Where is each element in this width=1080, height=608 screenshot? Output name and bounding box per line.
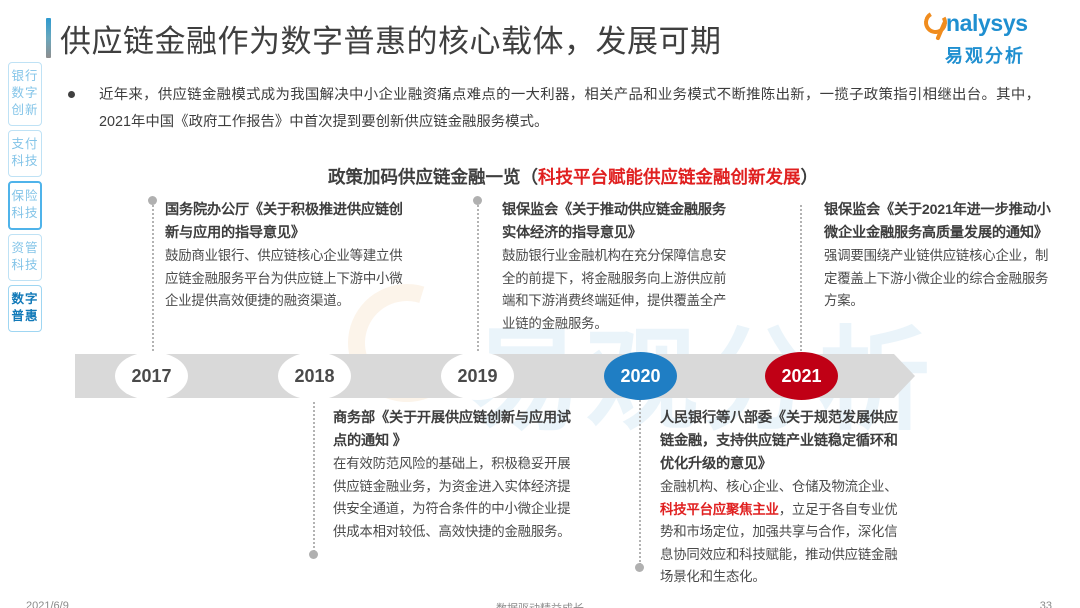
timeline-year-2020[interactable]: 2020	[604, 352, 677, 400]
sidebar-item-payment[interactable]: 支付科技	[8, 130, 42, 177]
sidebar-item-label-0: 银行数字创新	[9, 68, 41, 119]
footer-page-number: 33	[1040, 600, 1052, 608]
policy-card-2019: 银保监会《关于推动供应链金融服务实体经济的指导意见》 鼓励银行业金融机构在充分保…	[502, 199, 735, 335]
policy-card-2021: 银保监会《关于2021年进一步推动小微企业金融服务高质量发展的通知》 强调要围绕…	[824, 199, 1056, 313]
policy-card-heading-2021: 银保监会《关于2021年进一步推动小微企业金融服务高质量发展的通知》	[824, 199, 1056, 245]
policy-card-2020: 人民银行等八部委《关于规范发展供应链金融，支持供应链产业链稳定循环和优化升级的意…	[660, 407, 902, 589]
sidebar-tabs: 银行数字创新 支付科技 保险科技 资管科技 数字普惠	[8, 62, 42, 336]
policy-card-body-2019: 鼓励银行业金融机构在充分保障信息安全的前提下，将金融服务向上游供应前端和下游消费…	[502, 245, 735, 335]
timeline-year-label-2017: 2017	[131, 366, 171, 387]
slide: 易观分析 供应链金融作为数字普惠的核心载体，发展可期 nalysys 易观分析 …	[0, 0, 1080, 608]
policy-card-body-2020: 金融机构、核心企业、仓储及物流企业、科技平台应聚焦主业，立足于各自专业优势和市场…	[660, 476, 902, 589]
timeline-year-2017[interactable]: 2017	[115, 352, 188, 400]
policy-card-heading-2017: 国务院办公厅《关于积极推进供应链创新与应用的指导意见》	[165, 199, 415, 245]
sidebar-item-banking[interactable]: 银行数字创新	[8, 62, 42, 126]
connector-line-2021	[800, 205, 802, 355]
policy-card-2017: 国务院办公厅《关于积极推进供应链创新与应用的指导意见》 鼓励商业银行、供应链核心…	[165, 199, 415, 313]
title-accent-bar	[46, 18, 51, 58]
logo-word-text: nalysys	[946, 10, 1028, 37]
policy-body-highlight-2020: 科技平台应聚焦主业	[660, 502, 779, 517]
logo-wordmark: nalysys	[924, 10, 1046, 40]
bullet-dot-icon	[68, 91, 75, 98]
policy-body-pre-2020: 金融机构、核心企业、仓储及物流企业、	[660, 479, 897, 494]
sidebar-item-label-4: 数字普惠	[9, 291, 41, 325]
policy-card-2018: 商务部《关于开展供应链创新与应用试点的通知 》 在有效防范风险的基础上，积极稳妥…	[333, 407, 576, 543]
connector-dot-2020	[635, 563, 644, 572]
sidebar-item-label-3: 资管科技	[9, 240, 41, 274]
sidebar-item-asset-management[interactable]: 资管科技	[8, 234, 42, 281]
sidebar-item-label-2: 保险科技	[10, 188, 40, 222]
chart-title-main: 政策加码供应链金融一览（	[328, 167, 538, 187]
sidebar-item-digital-inclusive[interactable]: 数字普惠	[8, 285, 42, 332]
chart-title: 政策加码供应链金融一览（科技平台赋能供应链金融创新发展）	[328, 164, 818, 189]
logo-chinese-text: 易观分析	[924, 42, 1046, 68]
chart-title-tail: ）	[801, 167, 819, 187]
timeline-year-label-2021: 2021	[781, 366, 821, 387]
footer-slogan: 数据驱动精益成长	[0, 600, 1080, 608]
intro-paragraph: 近年来，供应链金融模式成为我国解决中小企业融资痛点难点的一大利器，相关产品和业务…	[68, 82, 1040, 136]
timeline-year-label-2019: 2019	[457, 366, 497, 387]
timeline-year-2019[interactable]: 2019	[441, 352, 514, 400]
timeline-year-label-2020: 2020	[620, 366, 660, 387]
policy-card-body-2018: 在有效防范风险的基础上，积极稳妥开展供应链金融业务，为资金进入实体经济提供安全通…	[333, 453, 576, 543]
policy-card-heading-2020: 人民银行等八部委《关于规范发展供应链金融，支持供应链产业链稳定循环和优化升级的意…	[660, 407, 902, 476]
timeline-year-2018[interactable]: 2018	[278, 352, 351, 400]
timeline-year-2021[interactable]: 2021	[765, 352, 838, 400]
connector-line-2018	[313, 397, 315, 552]
connector-dot-2018	[309, 550, 318, 559]
intro-paragraph-text: 近年来，供应链金融模式成为我国解决中小企业融资痛点难点的一大利器，相关产品和业务…	[99, 82, 1040, 136]
sidebar-item-insurance[interactable]: 保险科技	[8, 181, 42, 230]
connector-line-2017	[152, 205, 154, 355]
policy-card-body-2021: 强调要围绕产业链供应链核心企业，制定覆盖上下游小微企业的综合金融服务方案。	[824, 245, 1056, 313]
chart-title-highlight: 科技平台赋能供应链金融创新发展	[538, 167, 801, 187]
page-title: 供应链金融作为数字普惠的核心载体，发展可期	[60, 16, 722, 61]
timeline-year-label-2018: 2018	[294, 366, 334, 387]
connector-dot-2019	[473, 196, 482, 205]
sidebar-item-label-1: 支付科技	[9, 136, 41, 170]
policy-card-heading-2019: 银保监会《关于推动供应链金融服务实体经济的指导意见》	[502, 199, 735, 245]
policy-card-heading-2018: 商务部《关于开展供应链创新与应用试点的通知 》	[333, 407, 576, 453]
brand-logo: nalysys 易观分析	[924, 10, 1046, 68]
connector-dot-2017	[148, 196, 157, 205]
policy-card-body-2017: 鼓励商业银行、供应链核心企业等建立供应链金融服务平台为供应链上下游中小微企业提供…	[165, 245, 415, 313]
connector-line-2020	[639, 397, 641, 565]
connector-line-2019	[477, 205, 479, 355]
